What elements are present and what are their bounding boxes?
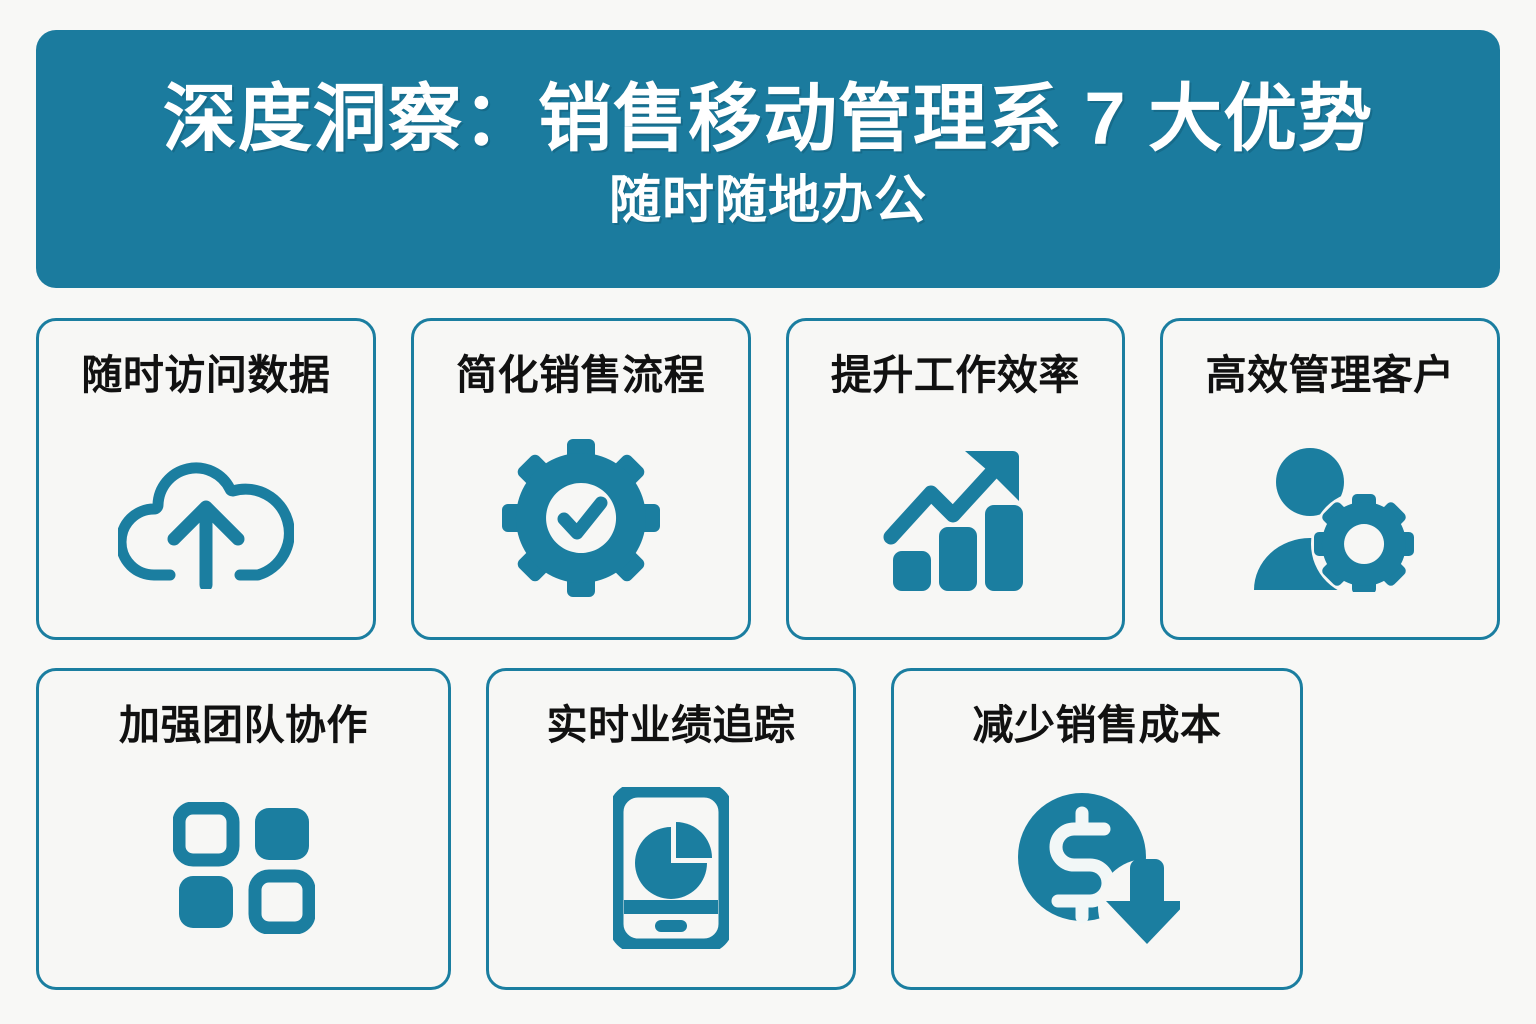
card-row-top: 随时访问数据 简化销售流程 [36, 318, 1500, 640]
page-title: 深度洞察：销售移动管理系 7 大优势 [163, 79, 1373, 159]
card-label: 提升工作效率 [831, 353, 1080, 398]
card-label: 简化销售流程 [456, 353, 705, 398]
card-simplify-sales-process[interactable]: 简化销售流程 [411, 318, 751, 640]
page-subtitle: 随时随地办公 [609, 173, 927, 230]
card-row-bottom: 加强团队协作 实时业绩追踪 [36, 668, 1500, 990]
header-banner: 深度洞察：销售移动管理系 7 大优势 随时随地办公 [36, 30, 1500, 288]
mobile-pie-chart-icon [613, 770, 729, 965]
card-reduce-sales-cost[interactable]: 减少销售成本 [891, 668, 1303, 990]
user-gear-icon [1246, 420, 1414, 615]
card-anytime-data-access[interactable]: 随时访问数据 [36, 318, 376, 640]
card-label: 加强团队协作 [119, 703, 368, 748]
card-realtime-tracking[interactable]: 实时业绩追踪 [486, 668, 856, 990]
benefit-card-grid: 随时访问数据 简化销售流程 [36, 318, 1500, 990]
card-manage-customers[interactable]: 高效管理客户 [1160, 318, 1500, 640]
grid-squares-icon [173, 770, 315, 965]
infographic-page: 深度洞察：销售移动管理系 7 大优势 随时随地办公 随时访问数据 [0, 0, 1536, 1024]
card-improve-efficiency[interactable]: 提升工作效率 [786, 318, 1126, 640]
card-team-collaboration[interactable]: 加强团队协作 [36, 668, 451, 990]
growth-chart-icon [879, 420, 1031, 615]
cloud-upload-icon [118, 420, 294, 615]
card-label: 减少销售成本 [973, 703, 1222, 748]
dollar-down-arrow-icon [1014, 770, 1180, 965]
card-label: 高效管理客户 [1206, 353, 1455, 398]
card-label: 实时业绩追踪 [547, 703, 796, 748]
card-label: 随时访问数据 [81, 353, 330, 398]
gear-check-icon [502, 420, 660, 615]
